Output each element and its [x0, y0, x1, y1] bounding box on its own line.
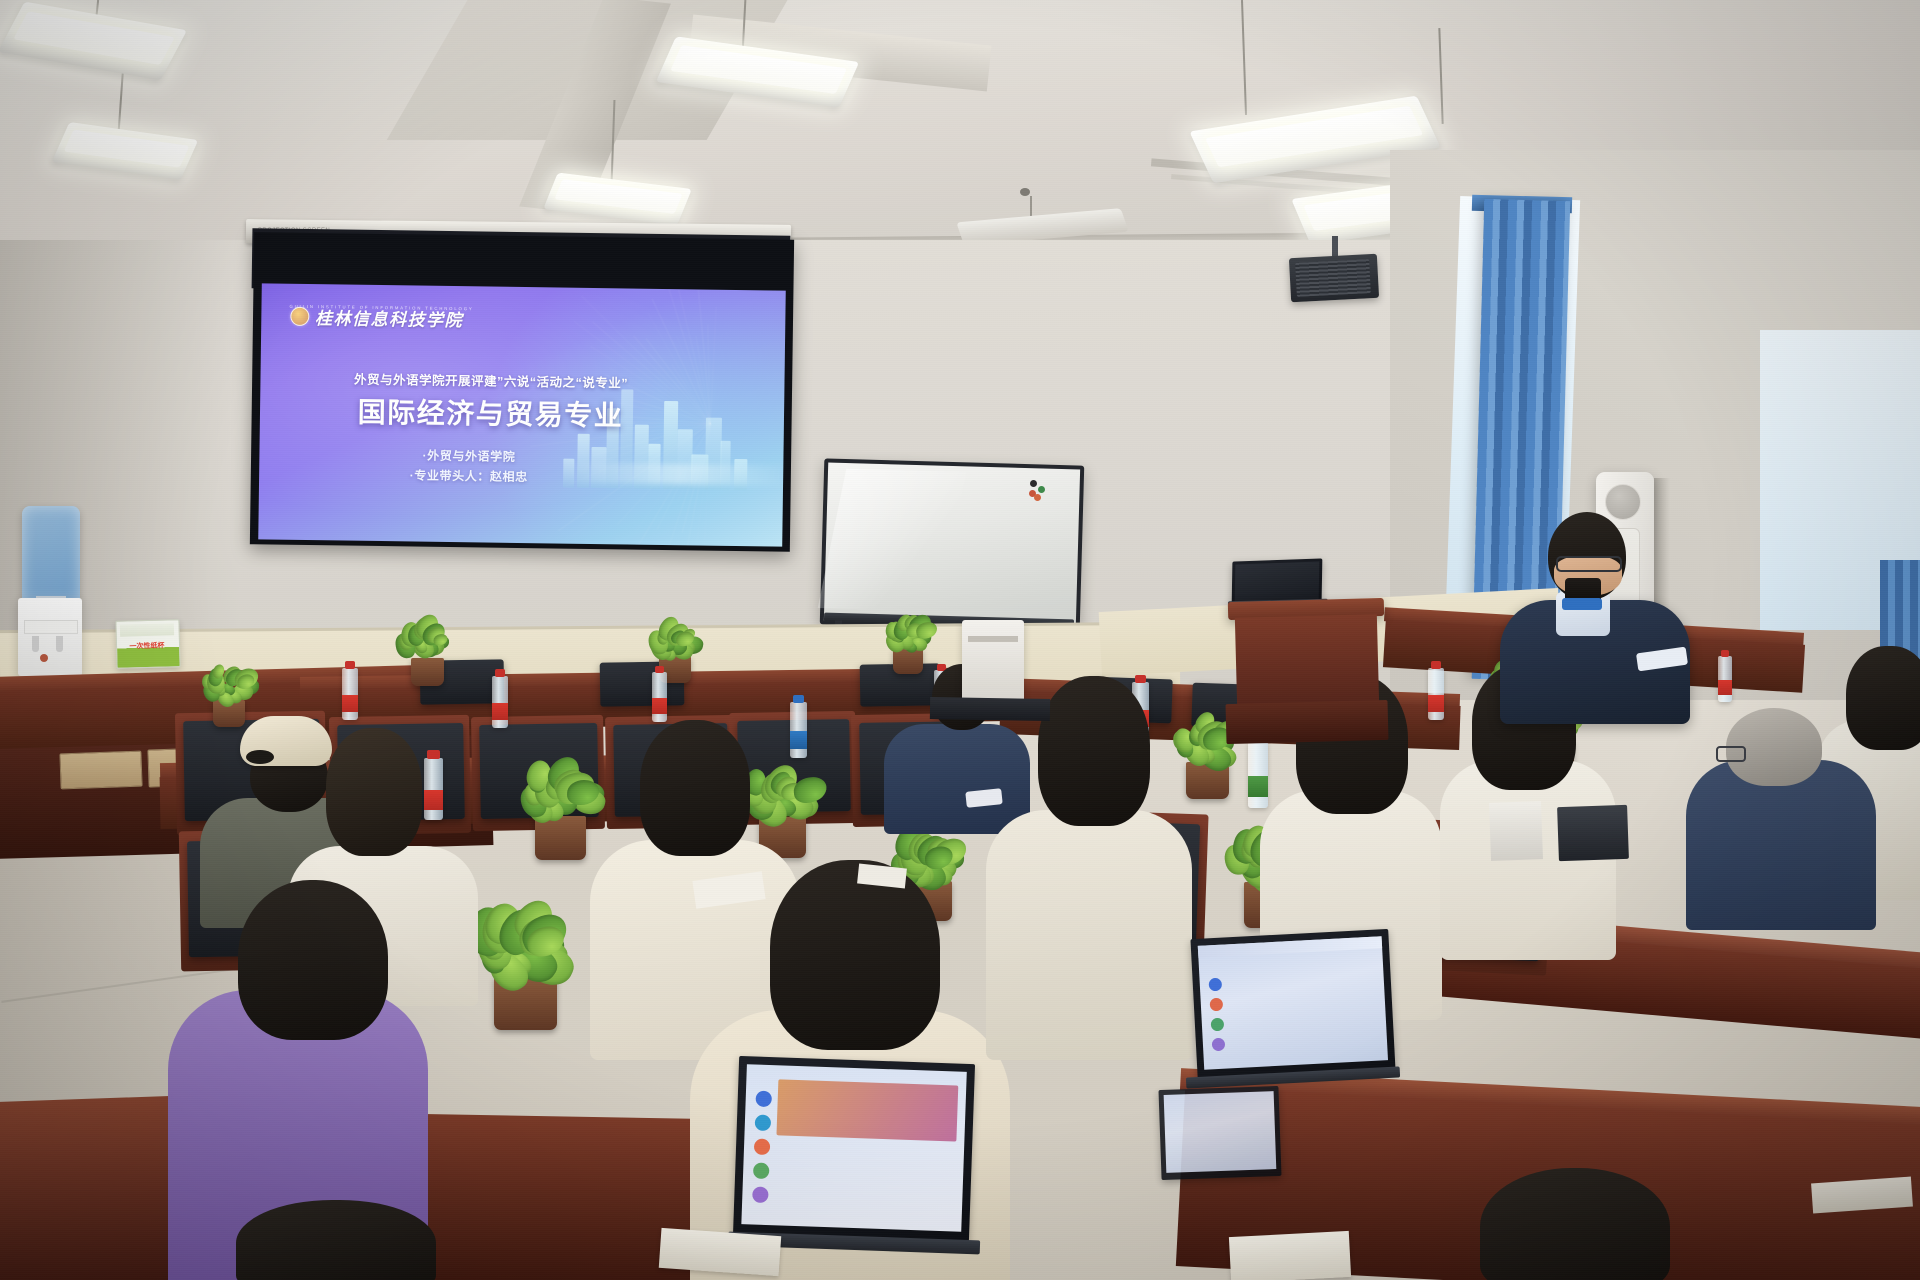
- bottle-label: [1428, 695, 1444, 712]
- water-bottle[interactable]: [1428, 668, 1444, 720]
- classroom-scene: PROJECTION SCREEN 桂林信息科技学院 GUILIN INSTIT…: [0, 0, 1920, 1280]
- light-wire: [1030, 196, 1032, 218]
- water-bottle[interactable]: [492, 676, 508, 728]
- podium-equipment-box: [1557, 805, 1629, 861]
- attendee-purple-sweater-head: [238, 880, 388, 1040]
- water-bottle[interactable]: [790, 702, 807, 758]
- attendee-cream-head: [640, 720, 750, 856]
- equipment-shadow: [930, 697, 1050, 721]
- podium-body[interactable]: [1235, 614, 1379, 708]
- cap-opening: [246, 750, 274, 764]
- water-tap-icon[interactable]: [56, 636, 63, 652]
- bottle-label: [652, 698, 667, 714]
- attendee-foreground-head-2: [236, 1200, 436, 1280]
- bottle-label: [1718, 680, 1732, 695]
- attendee-white-coat-head: [326, 728, 422, 856]
- audience-laptop[interactable]: [1190, 929, 1395, 1081]
- university-seal-icon: [290, 307, 309, 326]
- presenter-glasses-icon: [1556, 556, 1622, 572]
- attendee-edge-head: [1846, 646, 1920, 750]
- attendee-knit-head: [1038, 676, 1150, 826]
- water-bottle[interactable]: [1248, 742, 1268, 808]
- bottle-cap-icon: [1721, 650, 1730, 657]
- paper-cups-label: 一次性纸杯: [120, 640, 174, 651]
- attendee-navy-sweater-body: [884, 724, 1030, 834]
- bottle-cap-icon: [345, 661, 355, 669]
- bottle-cap-icon: [1135, 675, 1146, 683]
- whiteboard-magnet-icon[interactable]: [1034, 494, 1041, 501]
- ac-vent-icon: [1605, 484, 1641, 520]
- printer-slot: [968, 636, 1018, 642]
- paper-cups-window: [120, 623, 174, 636]
- microphone-band: [1562, 598, 1602, 610]
- water-bottle[interactable]: [342, 668, 358, 720]
- slide-bullets: ·外贸与外语学院 ·专业带头人：赵相忠: [259, 445, 679, 490]
- bottle-label: [492, 703, 508, 720]
- water-bottle-jug: [22, 506, 80, 602]
- audience-laptop-2[interactable]: [733, 1056, 975, 1244]
- attendee-knit-body: [986, 810, 1192, 1060]
- plant-pot: [411, 658, 444, 687]
- bottle-label: [424, 790, 443, 810]
- cardboard-box: [59, 751, 142, 790]
- bottle-cap-icon: [1431, 661, 1441, 669]
- presentation-slide[interactable]: 桂林信息科技学院 GUILIN INSTITUTE OF INFORMATION…: [258, 283, 786, 546]
- paper-sheet[interactable]: [659, 1228, 781, 1276]
- ceiling-anchor: [1020, 188, 1030, 196]
- bottle-cap-icon: [427, 750, 439, 759]
- whiteboard-magnet-icon[interactable]: [1038, 486, 1045, 493]
- water-tap-icon[interactable]: [32, 636, 39, 652]
- water-bottle[interactable]: [652, 672, 667, 722]
- bottle-cap-icon: [655, 666, 665, 674]
- water-bottle[interactable]: [424, 758, 443, 820]
- bottle-label: [1248, 776, 1268, 797]
- bottle-cap-icon: [793, 695, 804, 703]
- attendee-foreground-head: [1480, 1168, 1670, 1280]
- water-dispenser[interactable]: [18, 598, 82, 676]
- podium-paper-stack: [1489, 801, 1543, 861]
- speaker-grill-icon: [1295, 259, 1371, 297]
- water-dispenser-indicator: [40, 654, 48, 662]
- paper-sheet[interactable]: [1229, 1231, 1351, 1280]
- eyeglasses-icon: [1716, 746, 1746, 762]
- bottle-label: [342, 695, 358, 712]
- attendee-beige-jacket-head: [770, 860, 940, 1050]
- bottle-label: [790, 731, 807, 749]
- water-dispenser-panel: [24, 620, 78, 634]
- podium-base: [1226, 700, 1389, 744]
- printer-unit: [962, 620, 1024, 702]
- bottle-cap-icon: [495, 669, 505, 677]
- whiteboard-magnet-icon[interactable]: [1030, 480, 1037, 487]
- slide-title: 国际经济与贸易专业: [260, 390, 722, 436]
- audience-laptop-3[interactable]: [1158, 1086, 1281, 1180]
